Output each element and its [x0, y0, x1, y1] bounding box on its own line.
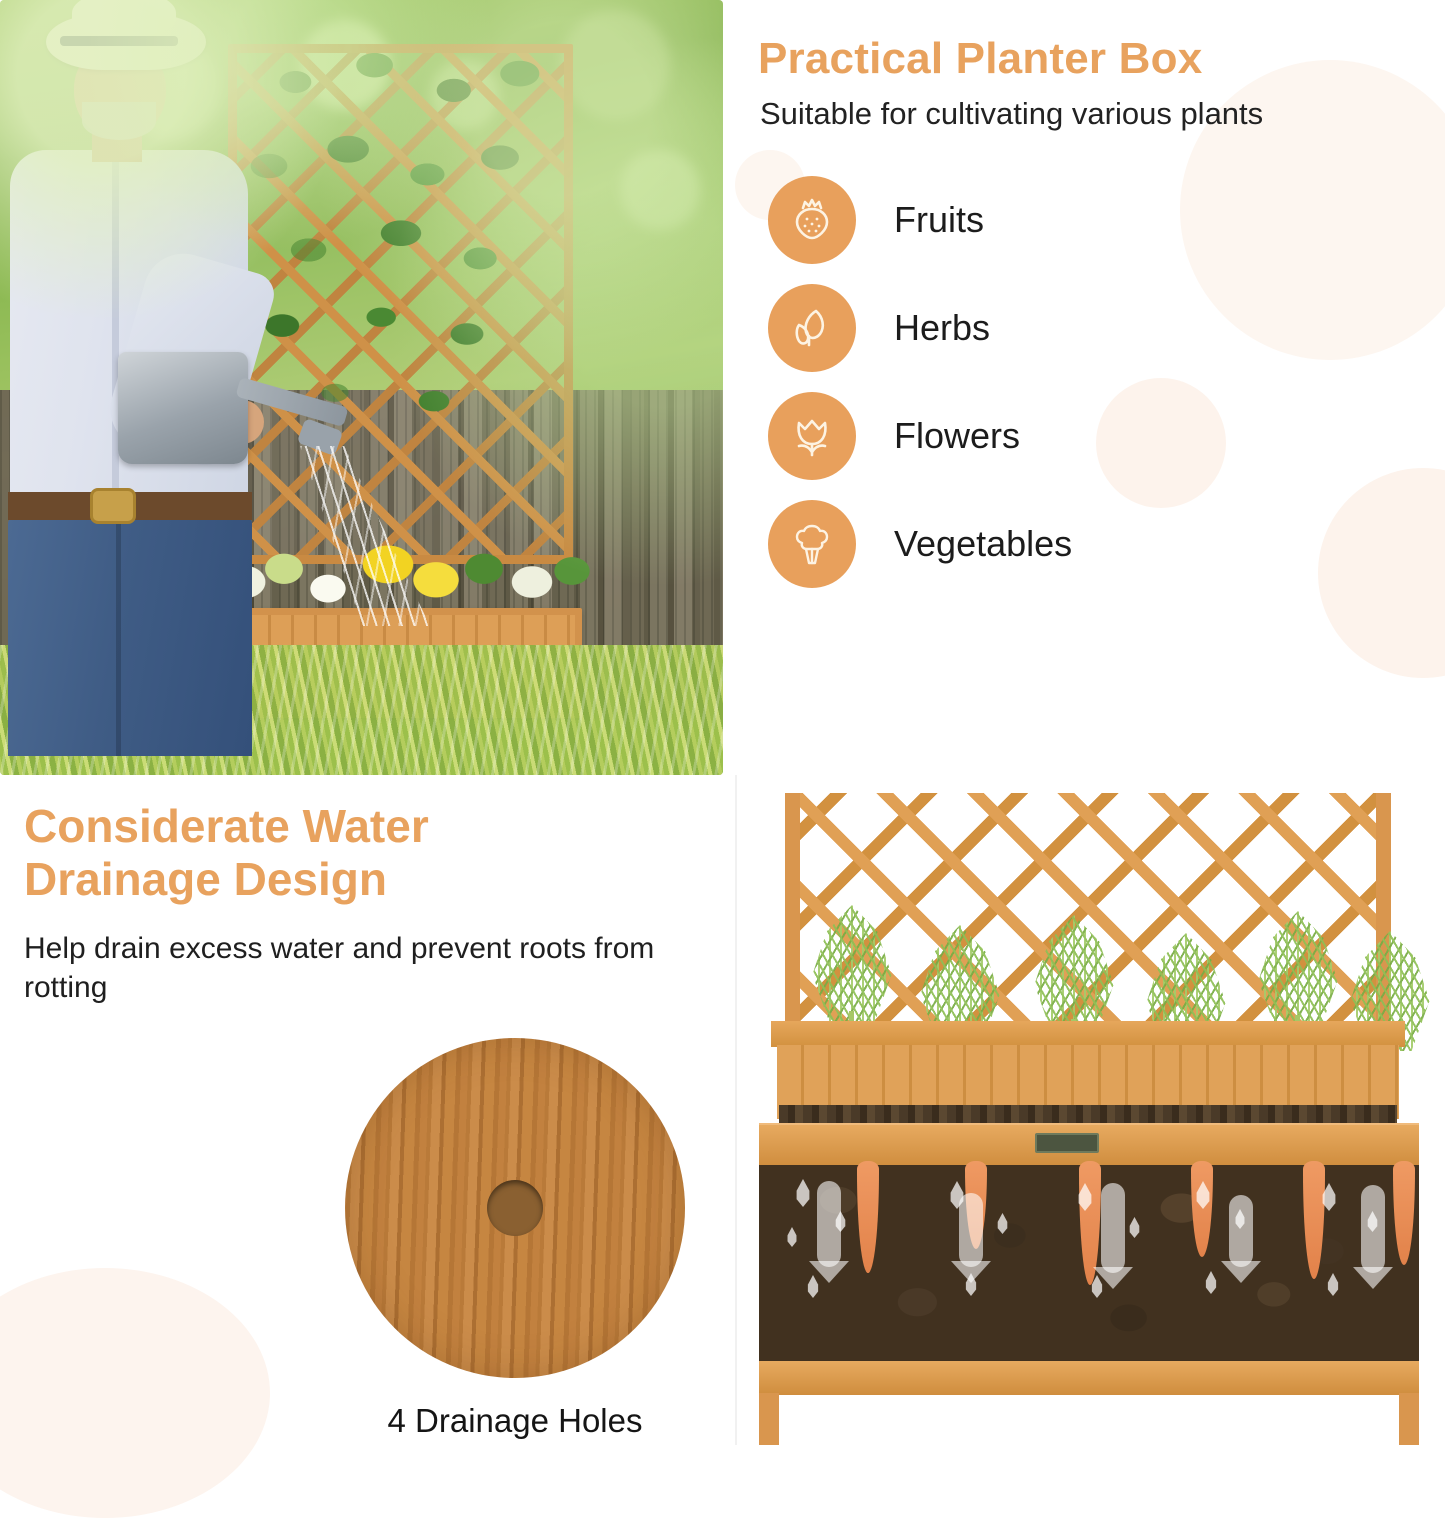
drainage-text-block: Considerate Water Drainage Design Help d…	[24, 800, 724, 1007]
buried-carrot	[1303, 1161, 1325, 1279]
photo-watering-can	[118, 352, 248, 464]
feature-label-fruits: Fruits	[894, 199, 984, 241]
herb-leaves-icon	[768, 284, 856, 372]
gardener-hat-band	[60, 36, 178, 46]
water-droplet	[1203, 1271, 1219, 1294]
feature-row-herbs: Herbs	[768, 274, 1445, 382]
water-droplet	[1127, 1217, 1142, 1238]
features-panel: Practical Planter Box Suitable for culti…	[748, 0, 1445, 762]
drainage-title-line1: Considerate Water	[24, 800, 724, 853]
drainage-title-line2: Drainage Design	[24, 853, 724, 906]
buried-carrot	[1191, 1161, 1213, 1257]
page-subtitle: Suitable for cultivating various plants	[760, 96, 1445, 132]
cutaway-bottom-rail	[759, 1361, 1419, 1395]
water-droplet	[995, 1213, 1010, 1234]
drainage-title: Considerate Water Drainage Design	[24, 800, 724, 907]
feature-row-vegetables: Vegetables	[768, 490, 1445, 598]
feature-label-flowers: Flowers	[894, 415, 1020, 457]
strawberry-icon	[768, 176, 856, 264]
planter-cutaway-illustration	[735, 775, 1445, 1445]
cutaway-soil-section	[759, 1165, 1419, 1361]
feature-row-fruits: Fruits	[768, 166, 1445, 274]
buried-carrot	[1393, 1161, 1415, 1265]
cutaway-top-rail	[771, 1021, 1405, 1047]
drainage-body-text: Help drain excess water and prevent root…	[24, 929, 724, 1007]
drainage-hole-figure: 4 Drainage Holes	[325, 1038, 705, 1440]
feature-label-vegetables: Vegetables	[894, 523, 1072, 565]
broccoli-icon	[768, 500, 856, 588]
wood-disc-with-hole	[345, 1038, 685, 1378]
water-flow-arrow	[959, 1193, 983, 1267]
brand-plaque	[1035, 1133, 1099, 1153]
water-flow-arrow	[817, 1181, 841, 1267]
decor-blob-bottom-left	[0, 1268, 270, 1518]
water-droplet	[1325, 1273, 1341, 1296]
gardener-belt-buckle	[90, 488, 136, 524]
water-flow-arrow	[1229, 1195, 1253, 1267]
feature-row-flowers: Flowers	[768, 382, 1445, 490]
water-flow-arrow	[1361, 1185, 1385, 1273]
gardener-jeans	[8, 516, 252, 756]
gardener-beard	[82, 102, 156, 140]
feature-label-herbs: Herbs	[894, 307, 990, 349]
tulip-flower-icon	[768, 392, 856, 480]
water-flow-arrow	[1101, 1183, 1125, 1273]
planter-leg-right	[1399, 1393, 1419, 1445]
water-droplet	[793, 1179, 813, 1207]
drainage-hole-caption: 4 Drainage Holes	[325, 1402, 705, 1440]
buried-carrot	[857, 1161, 879, 1273]
page-title: Practical Planter Box	[758, 34, 1445, 84]
planter-leg-left	[759, 1393, 779, 1445]
plant-type-list: Fruits Herbs Flowers	[768, 166, 1445, 598]
lifestyle-photo-gardener	[0, 0, 723, 775]
water-droplet	[785, 1227, 799, 1247]
